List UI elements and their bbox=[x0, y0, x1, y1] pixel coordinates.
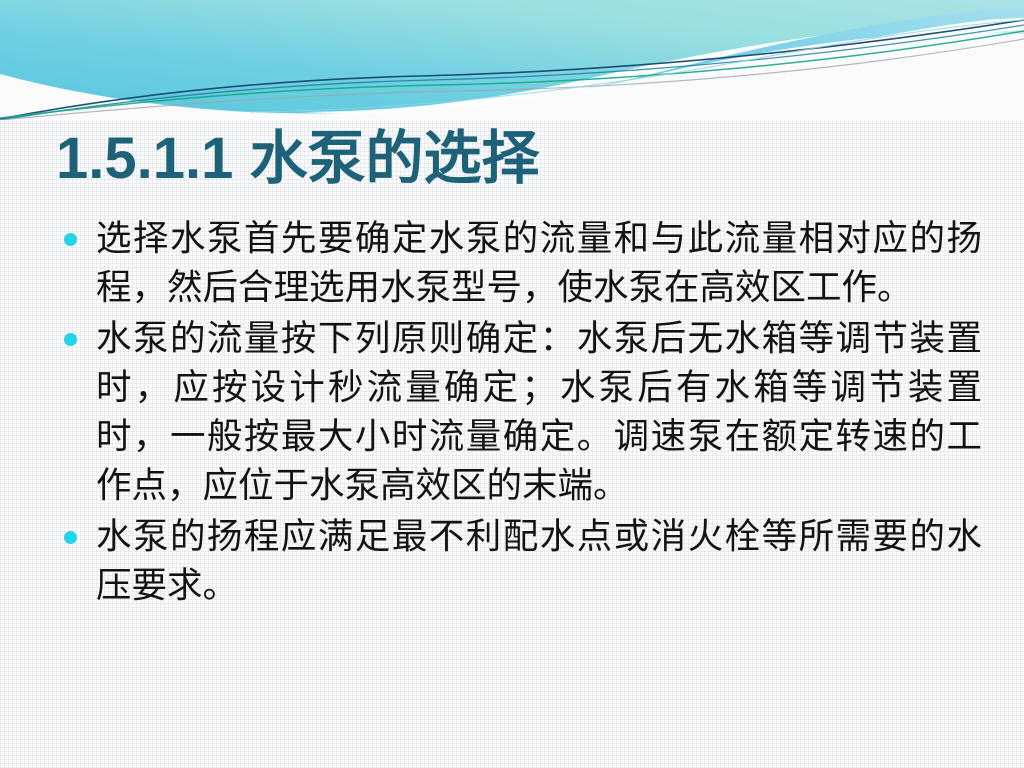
header-wave-banner-decoration bbox=[0, 0, 1024, 120]
slide-title: 1.5.1.1 水泵的选择 bbox=[56, 128, 540, 191]
bullet-dot-icon bbox=[64, 233, 77, 246]
bullet-dot-icon bbox=[64, 333, 77, 346]
header-wave-svg bbox=[0, 0, 1024, 120]
slide-canvas: 1.5.1.1 水泵的选择 选择水泵首先要确定水泵的流量和与此流量相对应的扬程，… bbox=[0, 0, 1024, 768]
bullet-text: 水泵的流量按下列原则确定：水泵后无水箱等调节装置时，应按设计秒流量确定；水泵后有… bbox=[96, 314, 982, 510]
bullet-list-item: 水泵的流量按下列原则确定：水泵后无水箱等调节装置时，应按设计秒流量确定；水泵后有… bbox=[52, 314, 982, 510]
bullet-dot-icon bbox=[64, 531, 77, 544]
bullet-text: 水泵的扬程应满足最不利配水点或消火栓等所需要的水压要求。 bbox=[96, 512, 982, 610]
bullet-list-item: 水泵的扬程应满足最不利配水点或消火栓等所需要的水压要求。 bbox=[52, 512, 982, 610]
bullet-list-item: 选择水泵首先要确定水泵的流量和与此流量相对应的扬程，然后合理选用水泵型号，使水泵… bbox=[52, 214, 982, 312]
slide-body-bullet-list: 选择水泵首先要确定水泵的流量和与此流量相对应的扬程，然后合理选用水泵型号，使水泵… bbox=[52, 214, 982, 612]
bullet-text: 选择水泵首先要确定水泵的流量和与此流量相对应的扬程，然后合理选用水泵型号，使水泵… bbox=[96, 214, 982, 312]
